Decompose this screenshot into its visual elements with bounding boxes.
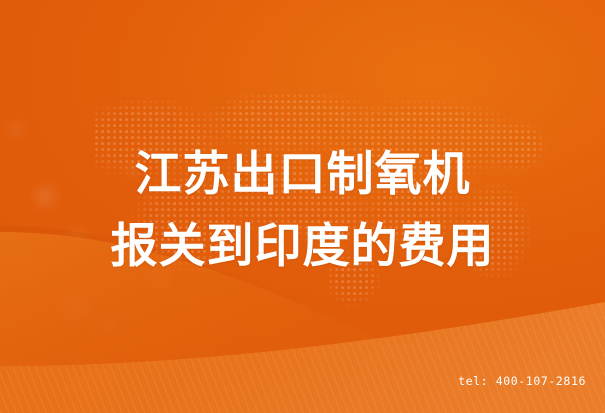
contact-telephone: tel: 400-107-2816 [458, 374, 586, 388]
page-title: 江苏出口制氧机 报关到印度的费用 [0, 138, 605, 282]
title-line-2: 报关到印度的费用 [0, 210, 605, 282]
title-line-1: 江苏出口制氧机 [0, 138, 605, 210]
promo-banner: 江苏出口制氧机 报关到印度的费用 tel: 400-107-2816 [0, 0, 605, 413]
